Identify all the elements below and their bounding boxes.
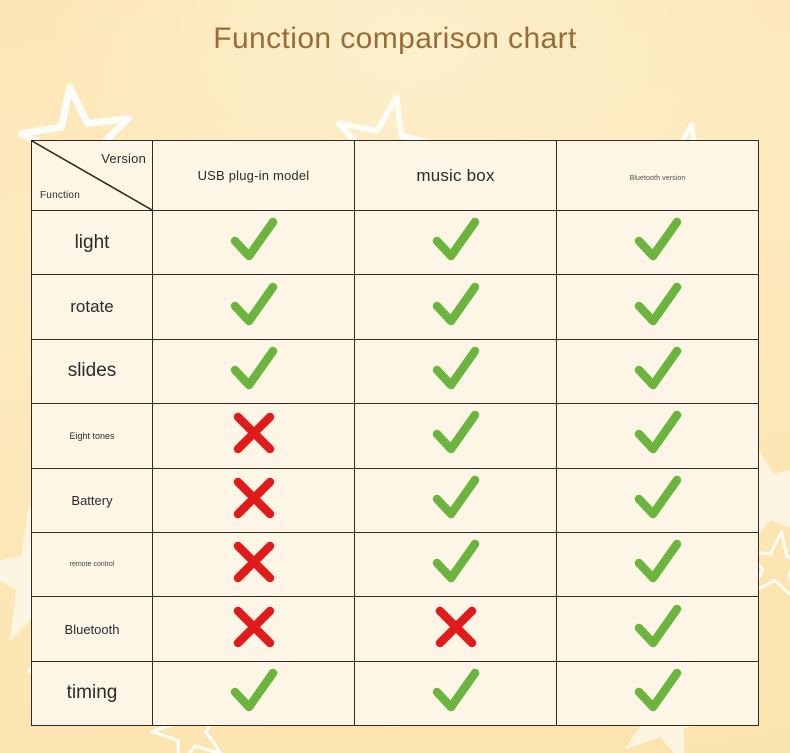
feature-label-cell: Eight tones: [32, 404, 153, 468]
support-cell: [557, 468, 759, 532]
column-header-label: USB plug-in model: [198, 168, 310, 183]
comparison-table-wrapper: Version Function USB plug-in model music…: [31, 140, 758, 716]
function-comparison-table: Version Function USB plug-in model music…: [31, 140, 759, 726]
header-row: Version Function USB plug-in model music…: [32, 141, 759, 211]
table-row: timing: [32, 661, 759, 725]
table-row: Battery: [32, 468, 759, 532]
table-body: lightrotateslidesEight tonesBatteryremot…: [32, 211, 759, 726]
feature-label: light: [32, 232, 152, 254]
check-icon: [429, 280, 483, 330]
feature-label: Battery: [32, 493, 152, 508]
table-header: Version Function USB plug-in model music…: [32, 141, 759, 211]
check-icon: [227, 344, 281, 394]
check-icon: [429, 473, 483, 523]
support-cell: [557, 211, 759, 275]
support-cell: [355, 275, 557, 339]
column-header-usb: USB plug-in model: [153, 141, 355, 211]
support-cell: [153, 275, 355, 339]
table-row: Eight tones: [32, 404, 759, 468]
corner-version-label: Version: [101, 151, 146, 166]
support-cell: [557, 404, 759, 468]
table-row: rotate: [32, 275, 759, 339]
column-header-bluetooth-version: Bluetooth version: [557, 141, 759, 211]
support-cell: [557, 339, 759, 403]
feature-label-cell: Bluetooth: [32, 597, 153, 661]
table-row: Bluetooth: [32, 597, 759, 661]
check-icon: [429, 537, 483, 587]
check-icon: [631, 408, 685, 458]
feature-label: rotate: [32, 297, 152, 317]
check-icon: [227, 280, 281, 330]
check-icon: [631, 473, 685, 523]
feature-label-cell: remote control: [32, 532, 153, 596]
check-icon: [227, 215, 281, 265]
feature-label: slides: [32, 360, 152, 382]
support-cell: [557, 275, 759, 339]
support-cell: [355, 661, 557, 725]
cross-icon: [431, 602, 481, 652]
feature-label-cell: light: [32, 211, 153, 275]
check-icon: [631, 537, 685, 587]
table-row: light: [32, 211, 759, 275]
check-icon: [227, 666, 281, 716]
support-cell: [153, 532, 355, 596]
check-icon: [429, 408, 483, 458]
corner-header-cell: Version Function: [32, 141, 153, 211]
support-cell: [153, 597, 355, 661]
cross-icon: [229, 602, 279, 652]
support-cell: [355, 339, 557, 403]
support-cell: [355, 468, 557, 532]
page-title: Function comparison chart: [0, 22, 790, 56]
table-row: slides: [32, 339, 759, 403]
check-icon: [631, 666, 685, 716]
cross-icon: [229, 473, 279, 523]
column-header-label: music box: [416, 166, 494, 185]
support-cell: [355, 404, 557, 468]
support-cell: [153, 468, 355, 532]
support-cell: [355, 597, 557, 661]
check-icon: [429, 344, 483, 394]
corner-function-label: Function: [40, 190, 80, 201]
feature-label-cell: Battery: [32, 468, 153, 532]
table-row: remote control: [32, 532, 759, 596]
feature-label: Eight tones: [32, 431, 152, 441]
check-icon: [631, 280, 685, 330]
check-icon: [631, 602, 685, 652]
feature-label-cell: timing: [32, 661, 153, 725]
comparison-chart-page: Function comparison chart Version Functi…: [0, 0, 790, 753]
feature-label-cell: rotate: [32, 275, 153, 339]
cross-icon: [229, 408, 279, 458]
check-icon: [429, 215, 483, 265]
support-cell: [153, 661, 355, 725]
support-cell: [153, 339, 355, 403]
support-cell: [355, 532, 557, 596]
cross-icon: [229, 537, 279, 587]
column-header-label: Bluetooth version: [630, 175, 686, 182]
feature-label-cell: slides: [32, 339, 153, 403]
column-header-music-box: music box: [355, 141, 557, 211]
check-icon: [429, 666, 483, 716]
support-cell: [355, 211, 557, 275]
check-icon: [631, 344, 685, 394]
support-cell: [557, 532, 759, 596]
support-cell: [153, 404, 355, 468]
feature-label: timing: [32, 682, 152, 704]
support-cell: [557, 597, 759, 661]
check-icon: [631, 215, 685, 265]
feature-label: remote control: [32, 561, 152, 568]
support-cell: [153, 211, 355, 275]
support-cell: [557, 661, 759, 725]
feature-label: Bluetooth: [32, 622, 152, 637]
